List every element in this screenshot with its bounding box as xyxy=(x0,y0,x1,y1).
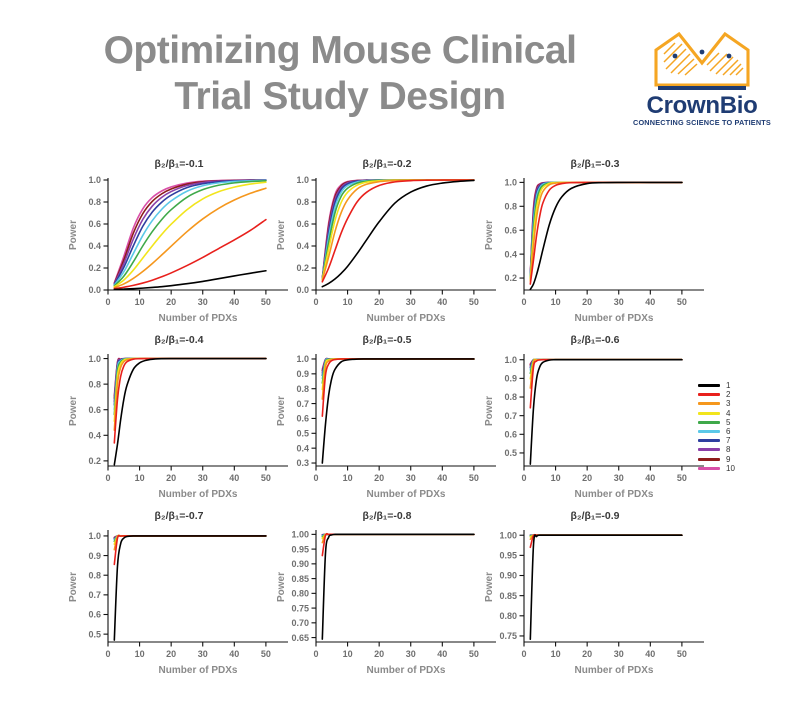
panel-title: β₂/β₁=-0.6 xyxy=(480,334,710,346)
legend-swatch xyxy=(698,384,720,387)
svg-text:Power: Power xyxy=(68,396,79,426)
series-line-4 xyxy=(322,180,474,280)
legend-swatch xyxy=(698,412,720,415)
svg-text:0.7: 0.7 xyxy=(88,590,101,600)
panel-title: β₂/β₁=-0.9 xyxy=(480,510,710,522)
chart-panel-2: β₂/β₁=-0.2010203040500.00.20.40.60.81.0N… xyxy=(272,158,502,330)
svg-text:0.6: 0.6 xyxy=(88,610,101,620)
svg-text:30: 30 xyxy=(198,473,208,483)
svg-text:0.7: 0.7 xyxy=(296,399,309,409)
series-line-3 xyxy=(530,182,682,281)
svg-text:0.95: 0.95 xyxy=(291,544,309,554)
legend-label: 8 xyxy=(726,445,730,454)
svg-text:10: 10 xyxy=(135,649,145,659)
legend-label: 5 xyxy=(726,418,730,427)
svg-text:40: 40 xyxy=(437,473,447,483)
series-line-1 xyxy=(114,271,266,290)
series-line-3 xyxy=(322,359,474,399)
power-curve-plot: 010203040500.20.40.60.81.0Number of PDXs… xyxy=(64,348,294,506)
svg-text:30: 30 xyxy=(406,473,416,483)
svg-text:0: 0 xyxy=(313,297,318,307)
chart-panel-9: β₂/β₁=-0.9010203040500.750.800.850.900.9… xyxy=(480,510,710,682)
svg-text:50: 50 xyxy=(261,297,271,307)
svg-text:0: 0 xyxy=(105,649,110,659)
svg-text:40: 40 xyxy=(645,297,655,307)
svg-text:20: 20 xyxy=(166,473,176,483)
series-line-3 xyxy=(530,360,682,388)
svg-text:10: 10 xyxy=(343,297,353,307)
svg-text:40: 40 xyxy=(437,649,447,659)
svg-text:30: 30 xyxy=(198,297,208,307)
brand-logo: CrownBio CONNECTING SCIENCE TO PATIENTS xyxy=(622,30,782,140)
svg-text:0.2: 0.2 xyxy=(504,273,517,283)
svg-text:0.95: 0.95 xyxy=(499,551,517,561)
svg-text:0.8: 0.8 xyxy=(88,197,101,207)
series-line-2 xyxy=(322,359,474,416)
svg-text:30: 30 xyxy=(614,649,624,659)
svg-text:1.00: 1.00 xyxy=(499,530,517,540)
svg-text:0: 0 xyxy=(105,297,110,307)
svg-text:40: 40 xyxy=(229,297,239,307)
svg-text:0.80: 0.80 xyxy=(499,611,517,621)
svg-text:40: 40 xyxy=(229,649,239,659)
legend-item-4: 4 xyxy=(698,409,768,418)
series-line-5 xyxy=(530,359,682,373)
series-line-4 xyxy=(530,359,682,378)
legend-item-8: 8 xyxy=(698,445,768,454)
power-curve-plot: 010203040500.20.40.60.81.0Number of PDXs… xyxy=(480,172,710,330)
svg-text:10: 10 xyxy=(551,297,561,307)
svg-text:40: 40 xyxy=(645,473,655,483)
series-line-5 xyxy=(530,182,682,278)
svg-text:Power: Power xyxy=(68,572,79,602)
svg-text:0.0: 0.0 xyxy=(296,285,309,295)
svg-text:30: 30 xyxy=(406,649,416,659)
legend-swatch xyxy=(698,421,720,424)
svg-text:10: 10 xyxy=(135,297,145,307)
svg-text:20: 20 xyxy=(582,297,592,307)
series-line-2 xyxy=(114,536,266,565)
legend-item-5: 5 xyxy=(698,418,768,427)
logo-wordmark: CrownBio xyxy=(622,92,782,120)
svg-text:50: 50 xyxy=(677,297,687,307)
svg-text:0: 0 xyxy=(521,473,526,483)
svg-text:Power: Power xyxy=(68,220,79,250)
svg-text:20: 20 xyxy=(582,473,592,483)
svg-text:20: 20 xyxy=(166,297,176,307)
svg-text:Number of PDXs: Number of PDXs xyxy=(159,665,238,676)
panel-title: β₂/β₁=-0.2 xyxy=(272,158,502,170)
svg-text:0.6: 0.6 xyxy=(296,219,309,229)
power-curve-plot: 010203040500.50.60.70.80.91.0Number of P… xyxy=(64,524,294,682)
legend-swatch xyxy=(698,430,720,433)
svg-text:0.2: 0.2 xyxy=(88,263,101,273)
svg-text:1.0: 1.0 xyxy=(504,178,517,188)
svg-text:Number of PDXs: Number of PDXs xyxy=(575,313,654,324)
series-line-4 xyxy=(530,182,682,279)
svg-text:0.6: 0.6 xyxy=(88,405,101,415)
series-line-2 xyxy=(530,360,682,408)
title-line-2: Trial Study Design xyxy=(60,74,620,120)
svg-text:0.75: 0.75 xyxy=(499,631,517,641)
svg-text:0.65: 0.65 xyxy=(291,633,309,643)
panel-title: β₂/β₁=-0.8 xyxy=(272,510,502,522)
series-line-2 xyxy=(114,359,266,443)
svg-text:0: 0 xyxy=(313,473,318,483)
legend-label: 3 xyxy=(726,399,730,408)
svg-text:Power: Power xyxy=(276,572,287,602)
svg-text:50: 50 xyxy=(469,297,479,307)
svg-text:Number of PDXs: Number of PDXs xyxy=(367,489,446,500)
series-line-2 xyxy=(530,182,682,284)
legend-swatch xyxy=(698,448,720,451)
legend-label: 10 xyxy=(726,464,735,473)
figure-page: Optimizing Mouse Clinical Trial Study De… xyxy=(0,0,800,714)
svg-text:1.0: 1.0 xyxy=(88,531,101,541)
series-line-6 xyxy=(114,359,266,410)
series-line-4 xyxy=(114,359,266,422)
svg-text:50: 50 xyxy=(469,649,479,659)
svg-text:Number of PDXs: Number of PDXs xyxy=(367,665,446,676)
series-line-5 xyxy=(114,359,266,415)
svg-text:Power: Power xyxy=(484,220,495,250)
svg-text:0.5: 0.5 xyxy=(296,428,309,438)
chart-panel-3: β₂/β₁=-0.3010203040500.20.40.60.81.0Numb… xyxy=(480,158,710,330)
legend-label: 1 xyxy=(726,381,730,390)
svg-text:Number of PDXs: Number of PDXs xyxy=(159,313,238,324)
legend-swatch xyxy=(698,393,720,396)
svg-text:1.0: 1.0 xyxy=(88,175,101,185)
svg-text:0.0: 0.0 xyxy=(88,285,101,295)
series-line-3 xyxy=(114,359,266,431)
title-line-1: Optimizing Mouse Clinical xyxy=(60,28,620,74)
series-line-3 xyxy=(322,534,474,543)
svg-text:50: 50 xyxy=(261,473,271,483)
svg-text:10: 10 xyxy=(135,473,145,483)
svg-text:0: 0 xyxy=(521,297,526,307)
svg-text:0.8: 0.8 xyxy=(504,392,517,402)
svg-text:30: 30 xyxy=(614,297,624,307)
legend-item-9: 9 xyxy=(698,455,768,464)
svg-text:0.75: 0.75 xyxy=(291,603,309,613)
svg-text:0.85: 0.85 xyxy=(499,591,517,601)
series-line-1 xyxy=(530,360,682,464)
power-curve-plot: 010203040500.650.700.750.800.850.900.951… xyxy=(272,524,502,682)
power-curve-plot: 010203040500.30.40.50.60.70.80.91.0Numbe… xyxy=(272,348,502,506)
panel-title: β₂/β₁=-0.1 xyxy=(64,158,294,170)
crown-icon xyxy=(652,30,752,92)
series-line-6 xyxy=(530,182,682,277)
svg-text:10: 10 xyxy=(551,473,561,483)
svg-text:50: 50 xyxy=(261,649,271,659)
power-curve-plot: 010203040500.00.20.40.60.81.0Number of P… xyxy=(272,172,502,330)
series-line-10 xyxy=(530,182,682,274)
svg-text:0: 0 xyxy=(313,649,318,659)
chart-panel-1: β₂/β₁=-0.1010203040500.00.20.40.60.81.0N… xyxy=(64,158,294,330)
svg-text:0.85: 0.85 xyxy=(291,574,309,584)
svg-text:0.5: 0.5 xyxy=(504,448,517,458)
svg-text:0.8: 0.8 xyxy=(504,202,517,212)
svg-text:1.0: 1.0 xyxy=(296,354,309,364)
svg-text:0.4: 0.4 xyxy=(296,241,309,251)
svg-text:0.4: 0.4 xyxy=(88,431,101,441)
series-line-4 xyxy=(322,359,474,389)
svg-text:1.0: 1.0 xyxy=(296,175,309,185)
chart-panel-8: β₂/β₁=-0.8010203040500.650.700.750.800.8… xyxy=(272,510,502,682)
legend-item-2: 2 xyxy=(698,390,768,399)
svg-text:0.9: 0.9 xyxy=(296,369,309,379)
series-line-5 xyxy=(322,359,474,383)
svg-text:Number of PDXs: Number of PDXs xyxy=(159,489,238,500)
svg-text:0.8: 0.8 xyxy=(88,379,101,389)
series-line-1 xyxy=(114,359,266,465)
svg-text:0: 0 xyxy=(521,649,526,659)
svg-text:Number of PDXs: Number of PDXs xyxy=(367,313,446,324)
svg-text:0.70: 0.70 xyxy=(291,618,309,628)
svg-text:0.2: 0.2 xyxy=(296,263,309,273)
svg-text:40: 40 xyxy=(229,473,239,483)
svg-text:50: 50 xyxy=(677,473,687,483)
panel-title: β₂/β₁=-0.5 xyxy=(272,334,502,346)
svg-text:1.0: 1.0 xyxy=(504,355,517,365)
power-curve-plot: 010203040500.50.60.70.80.91.0Number of P… xyxy=(480,348,710,506)
series-line-1 xyxy=(530,182,682,289)
svg-text:1.0: 1.0 xyxy=(88,354,101,364)
svg-text:0.6: 0.6 xyxy=(504,225,517,235)
svg-text:0.3: 0.3 xyxy=(296,458,309,468)
svg-text:0.6: 0.6 xyxy=(296,414,309,424)
legend-label: 7 xyxy=(726,436,730,445)
svg-text:Power: Power xyxy=(484,396,495,426)
chart-panel-4: β₂/β₁=-0.4010203040500.20.40.60.81.0Numb… xyxy=(64,334,294,506)
panel-title: β₂/β₁=-0.4 xyxy=(64,334,294,346)
series-line-1 xyxy=(322,534,474,639)
panel-title: β₂/β₁=-0.3 xyxy=(480,158,710,170)
series-line-2 xyxy=(530,535,682,548)
page-title: Optimizing Mouse Clinical Trial Study De… xyxy=(60,28,620,120)
svg-text:Number of PDXs: Number of PDXs xyxy=(575,665,654,676)
header: Optimizing Mouse Clinical Trial Study De… xyxy=(0,22,800,142)
legend-label: 9 xyxy=(726,455,730,464)
panel-title: β₂/β₁=-0.7 xyxy=(64,510,294,522)
power-curve-plot: 010203040500.00.20.40.60.81.0Number of P… xyxy=(64,172,294,330)
svg-text:0.4: 0.4 xyxy=(504,249,517,259)
svg-text:Power: Power xyxy=(484,572,495,602)
series-line-2 xyxy=(322,534,474,556)
power-curve-plot: 010203040500.750.800.850.900.951.00Numbe… xyxy=(480,524,710,682)
legend-label: 2 xyxy=(726,390,730,399)
series-line-1 xyxy=(322,359,474,463)
svg-text:0: 0 xyxy=(105,473,110,483)
svg-text:Power: Power xyxy=(276,220,287,250)
legend-item-6: 6 xyxy=(698,427,768,436)
legend-label: 6 xyxy=(726,427,730,436)
svg-text:Number of PDXs: Number of PDXs xyxy=(575,489,654,500)
series-line-4 xyxy=(114,535,266,544)
series-line-7 xyxy=(530,182,682,276)
svg-text:30: 30 xyxy=(406,297,416,307)
chart-grid: β₂/β₁=-0.1010203040500.00.20.40.60.81.0N… xyxy=(0,158,800,698)
legend-swatch xyxy=(698,402,720,405)
svg-text:0.80: 0.80 xyxy=(291,589,309,599)
series-line-1 xyxy=(530,535,682,639)
svg-text:0.9: 0.9 xyxy=(504,374,517,384)
svg-text:40: 40 xyxy=(437,297,447,307)
svg-text:0.90: 0.90 xyxy=(291,559,309,569)
series-line-1 xyxy=(114,536,266,640)
legend-item-3: 3 xyxy=(698,399,768,408)
svg-text:20: 20 xyxy=(374,473,384,483)
svg-text:0.2: 0.2 xyxy=(88,456,101,466)
legend-label: 4 xyxy=(726,409,730,418)
series-line-9 xyxy=(530,182,682,275)
svg-text:0.8: 0.8 xyxy=(88,570,101,580)
legend-item-10: 10 xyxy=(698,464,768,473)
svg-text:30: 30 xyxy=(614,473,624,483)
series-line-6 xyxy=(530,359,682,370)
svg-text:0.4: 0.4 xyxy=(296,443,309,453)
svg-text:20: 20 xyxy=(582,649,592,659)
svg-text:10: 10 xyxy=(343,473,353,483)
svg-text:0.6: 0.6 xyxy=(88,219,101,229)
svg-text:0.7: 0.7 xyxy=(504,411,517,421)
svg-text:1.00: 1.00 xyxy=(291,530,309,540)
svg-text:50: 50 xyxy=(469,473,479,483)
svg-text:50: 50 xyxy=(677,649,687,659)
chart-panel-7: β₂/β₁=-0.7010203040500.50.60.70.80.91.0N… xyxy=(64,510,294,682)
svg-text:20: 20 xyxy=(374,297,384,307)
svg-text:0.6: 0.6 xyxy=(504,430,517,440)
svg-text:0.8: 0.8 xyxy=(296,197,309,207)
legend-item-7: 7 xyxy=(698,436,768,445)
series-line-6 xyxy=(322,359,474,379)
series-legend: 12345678910 xyxy=(698,381,768,473)
svg-text:10: 10 xyxy=(343,649,353,659)
svg-text:30: 30 xyxy=(198,649,208,659)
series-line-7 xyxy=(322,359,474,376)
svg-text:0.5: 0.5 xyxy=(88,629,101,639)
svg-text:0.9: 0.9 xyxy=(88,551,101,561)
chart-panel-6: β₂/β₁=-0.6010203040500.50.60.70.80.91.0N… xyxy=(480,334,710,506)
svg-text:0.8: 0.8 xyxy=(296,384,309,394)
legend-swatch xyxy=(698,458,720,461)
svg-text:20: 20 xyxy=(374,649,384,659)
svg-text:0.90: 0.90 xyxy=(499,571,517,581)
svg-text:10: 10 xyxy=(551,649,561,659)
series-line-8 xyxy=(530,182,682,275)
legend-item-1: 1 xyxy=(698,381,768,390)
logo-tagline: CONNECTING SCIENCE TO PATIENTS xyxy=(622,118,782,127)
legend-swatch xyxy=(698,439,720,442)
chart-panel-5: β₂/β₁=-0.5010203040500.30.40.50.60.70.80… xyxy=(272,334,502,506)
series-line-3 xyxy=(114,535,266,549)
svg-text:0.4: 0.4 xyxy=(88,241,101,251)
svg-text:Power: Power xyxy=(276,396,287,426)
legend-swatch xyxy=(698,467,720,470)
svg-text:20: 20 xyxy=(166,649,176,659)
svg-text:40: 40 xyxy=(645,649,655,659)
